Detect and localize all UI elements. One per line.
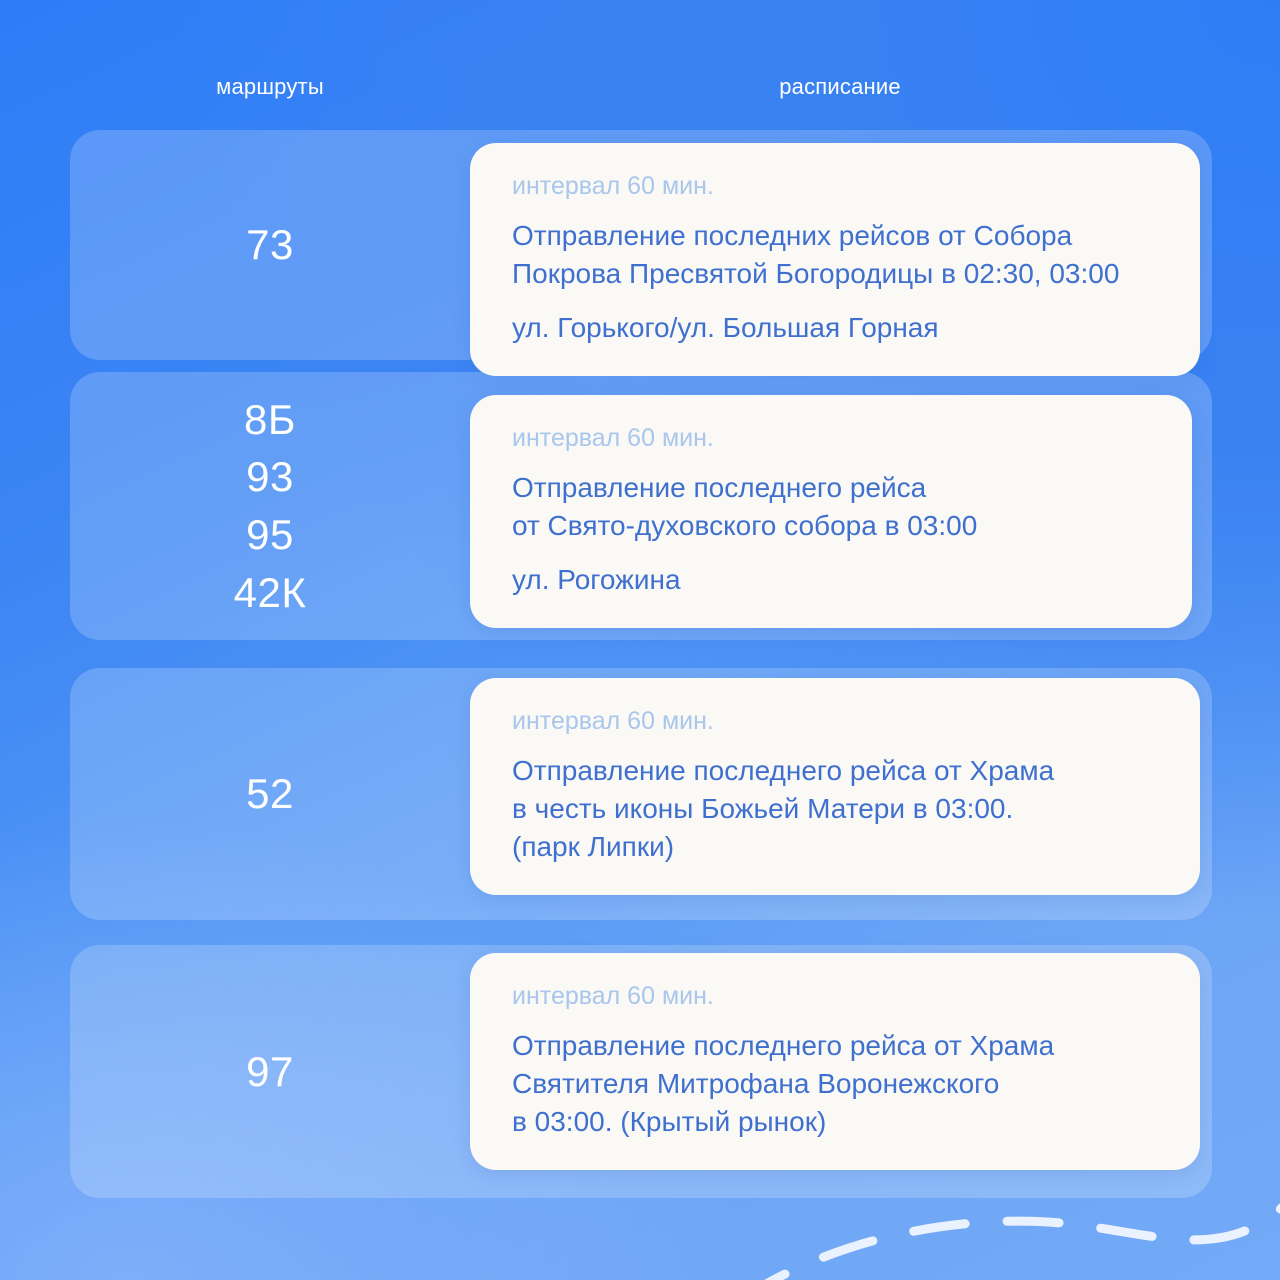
route-number: 93 [246, 450, 294, 504]
description-line: от Свято-духовского собора в 03:00 [512, 507, 1158, 545]
description-line: (парк Липки) [512, 828, 1166, 866]
table-row[interactable]: 52 интервал 60 мин. Отправление последне… [70, 668, 1212, 920]
interval-label: интервал 60 мин. [512, 706, 1166, 736]
route-number: 97 [246, 1045, 294, 1099]
route-number: 52 [246, 767, 294, 821]
interval-label: интервал 60 мин. [512, 171, 1166, 201]
description-line: Отправление последнего рейса [512, 469, 1158, 507]
schedule-card[interactable]: интервал 60 мин. Отправление последнего … [470, 678, 1200, 895]
description-line: Святителя Митрофана Воронежского [512, 1065, 1166, 1103]
description-line: в честь иконы Божьей Матери в 03:00. [512, 790, 1166, 828]
stop-name: ул. Рогожина [512, 561, 1158, 599]
route-number-cell: 73 [70, 130, 470, 360]
description-line: Отправление последнего рейса от Храма [512, 752, 1166, 790]
route-number-cell: 97 [70, 945, 470, 1198]
route-number-cell: 8Б 93 95 42К [70, 372, 470, 640]
description-line: в 03:00. (Крытый рынок) [512, 1103, 1166, 1141]
schedule-card[interactable]: интервал 60 мин. Отправление последнего … [470, 395, 1192, 628]
route-number: 8Б [244, 393, 296, 447]
interval-label: интервал 60 мин. [512, 423, 1158, 453]
interval-label: интервал 60 мин. [512, 981, 1166, 1011]
description-line: Отправление последних рейсов от Собора [512, 217, 1166, 255]
route-number: 42К [234, 566, 307, 620]
schedule-card[interactable]: интервал 60 мин. Отправление последнего … [470, 953, 1200, 1170]
description-line: Отправление последнего рейса от Храма [512, 1027, 1166, 1065]
route-number: 95 [246, 508, 294, 562]
stop-name: ул. Горького/ул. Большая Горная [512, 309, 1166, 347]
table-row[interactable]: 8Б 93 95 42К интервал 60 мин. Отправлени… [70, 372, 1212, 640]
schedule-rows: 73 интервал 60 мин. Отправление последни… [0, 0, 1280, 1280]
table-row[interactable]: 73 интервал 60 мин. Отправление последни… [70, 130, 1212, 360]
description-line: Покрова Пресвятой Богородицы в 02:30, 03… [512, 255, 1166, 293]
route-number-cell: 52 [70, 668, 470, 920]
table-row[interactable]: 97 интервал 60 мин. Отправление последне… [70, 945, 1212, 1198]
schedule-card[interactable]: интервал 60 мин. Отправление последних р… [470, 143, 1200, 376]
route-number: 73 [246, 218, 294, 272]
